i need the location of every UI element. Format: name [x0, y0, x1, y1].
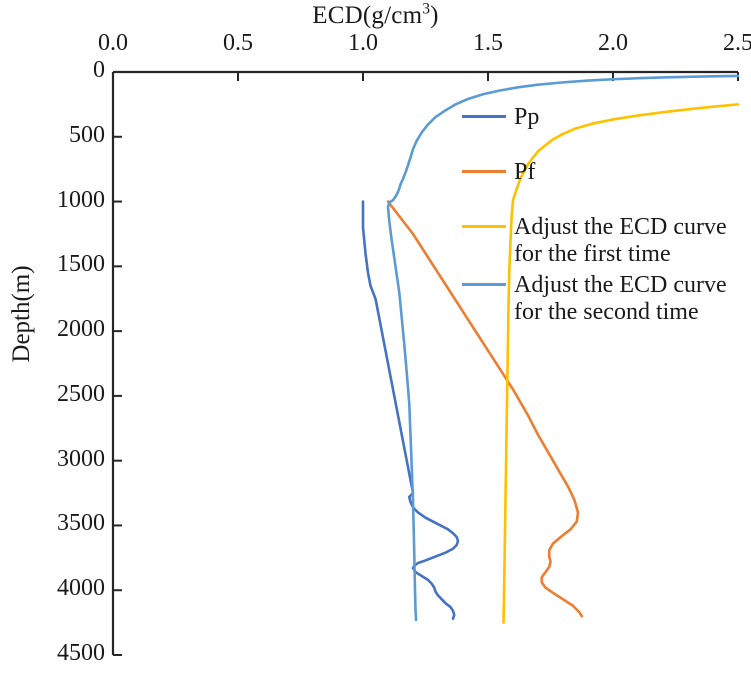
legend-item[interactable]: Adjust the ECD curve for the first time: [462, 214, 751, 268]
legend-color-swatch: [462, 159, 506, 183]
legend-item-label: Pp: [514, 104, 539, 131]
legend-item[interactable]: Pp: [462, 104, 751, 131]
legend-item[interactable]: Pf: [462, 159, 751, 186]
plot-area: [0, 0, 751, 675]
legend-color-swatch: [462, 214, 506, 238]
legend-color-swatch: [462, 272, 506, 296]
legend-item-label: Adjust the ECD curve for the first time: [514, 214, 727, 268]
legend-item[interactable]: Adjust the ECD curve for the second time: [462, 272, 751, 326]
ecd-depth-chart: ECD(g/cm3) Depth(m) 0.00.51.01.52.02.5 0…: [0, 0, 751, 675]
legend-color-swatch: [462, 104, 506, 128]
legend-item-label: Pf: [514, 159, 535, 186]
chart-legend: PpPfAdjust the ECD curve for the first t…: [462, 104, 751, 330]
legend-item-label: Adjust the ECD curve for the second time: [514, 272, 727, 326]
